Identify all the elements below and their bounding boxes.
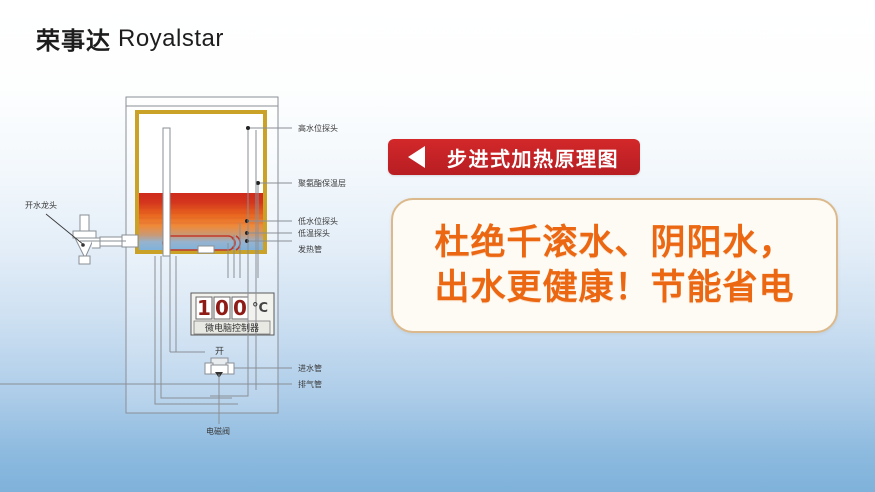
standpipe (163, 128, 170, 256)
callout-line-1: 杜绝千滚水、阴阳水， (434, 221, 794, 266)
triangle-left-icon (408, 146, 425, 168)
label-low-water-probe: 低水位探头 (298, 216, 338, 226)
label-insulation-layer: 聚氨酯保温层 (298, 178, 346, 188)
label-inlet-pipe: 进水管 (298, 363, 322, 373)
display-unit: °C (252, 301, 268, 316)
label-exhaust-pipe: 排气管 (298, 379, 322, 389)
highlight-callout-card: 杜绝千滚水、阴阳水， 出水更健康！节能省电 (391, 198, 838, 333)
label-heating-tube: 发热管 (298, 244, 322, 254)
callout-line-2: 出水更健康！节能省电 (434, 266, 794, 311)
section-banner: 步进式加热原理图 (388, 139, 640, 175)
label-faucet: 开水龙头 (25, 200, 57, 210)
display-digit-3: 0 (233, 296, 247, 320)
label-high-water-probe: 高水位探头 (298, 123, 338, 133)
section-banner-title: 步进式加热原理图 (447, 143, 619, 172)
water-volume (139, 193, 263, 250)
water-heater-principle-diagram: 开水龙头 高水位探头 聚氨酯保温层 低水位探头 低温探头 发热管 进水管 排气管… (0, 0, 390, 492)
display-digit-2: 0 (215, 296, 229, 320)
slide-canvas: 荣事达 Royalstar (0, 0, 875, 492)
display-digit-1: 1 (197, 296, 211, 320)
controller-panel-label: 微电脑控制器 (205, 322, 259, 334)
label-low-temp-probe: 低温探头 (298, 228, 330, 238)
label-valve-open: 开 (215, 346, 224, 357)
label-solenoid-valve: 电磁阀 (206, 426, 230, 436)
